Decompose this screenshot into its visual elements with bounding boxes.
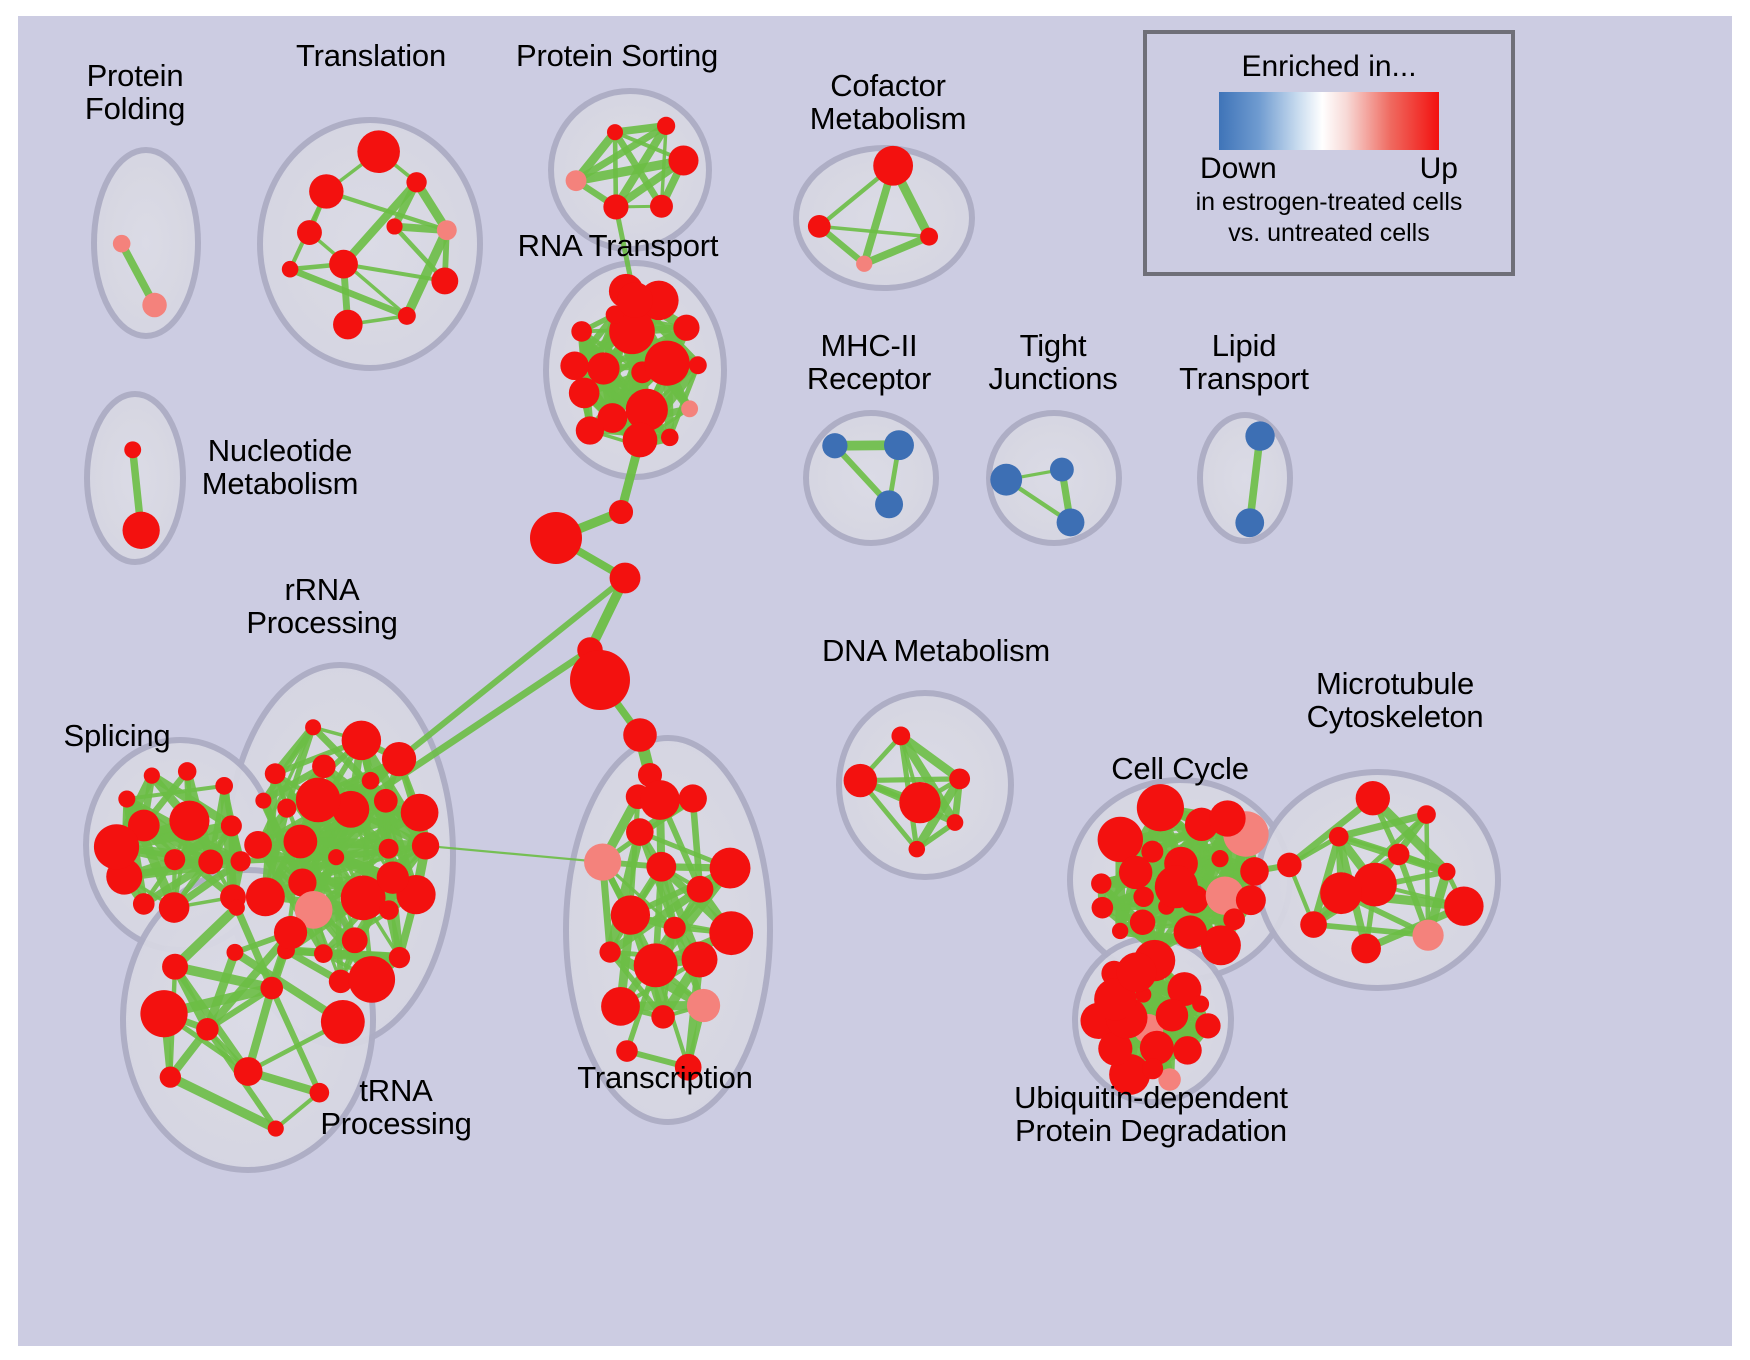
network-node (884, 430, 914, 460)
network-node (679, 784, 707, 812)
network-node (297, 220, 322, 245)
network-node (682, 942, 718, 978)
network-node (198, 849, 223, 874)
network-node (822, 433, 847, 458)
legend-subtitle-line1: in estrogen-treated cells (1147, 188, 1511, 217)
network-node (398, 307, 416, 325)
network-edge (323, 954, 399, 958)
network-node (569, 378, 600, 409)
network-node (601, 987, 640, 1026)
network-node (609, 500, 633, 524)
network-node (314, 944, 333, 963)
network-node (681, 400, 698, 417)
network-node (1211, 850, 1228, 867)
network-node (709, 911, 753, 955)
network-node (587, 352, 619, 384)
cluster-label-cofactor-metabolism: Cofactor Metabolism (788, 70, 988, 135)
network-node (651, 1005, 675, 1029)
network-node (118, 791, 135, 808)
network-node (1209, 800, 1245, 836)
network-node (234, 1057, 263, 1086)
network-node (164, 849, 185, 870)
network-node (246, 877, 285, 916)
network-node (650, 195, 673, 218)
network-node (283, 825, 317, 859)
network-node (617, 282, 653, 318)
network-node (1098, 817, 1143, 862)
network-node (530, 512, 582, 564)
network-node (342, 927, 368, 953)
network-node (1236, 885, 1266, 915)
network-node (406, 172, 426, 192)
network-node (844, 764, 877, 797)
network-node (599, 941, 620, 962)
network-node (623, 423, 658, 458)
network-node (899, 782, 940, 823)
figure-root: Protein Folding Translation Protein Sort… (0, 0, 1750, 1360)
network-node (610, 563, 641, 594)
network-node (379, 900, 399, 920)
network-node (1300, 911, 1327, 938)
network-node (920, 228, 938, 246)
network-node (1156, 999, 1188, 1031)
network-node (570, 650, 630, 710)
network-node (687, 876, 714, 903)
network-node (142, 293, 166, 317)
network-node (668, 145, 698, 175)
network-node (1438, 863, 1456, 881)
network-node (244, 831, 272, 859)
network-node (616, 1040, 638, 1062)
network-node (282, 261, 299, 278)
network-node (321, 1000, 365, 1044)
network-node (640, 780, 680, 820)
network-node (607, 124, 623, 140)
network-node (230, 851, 250, 871)
network-node (1417, 805, 1436, 824)
network-node (1112, 923, 1128, 939)
network-node (382, 742, 416, 776)
network-node (144, 768, 160, 784)
network-node (1351, 934, 1381, 964)
cluster-label-cell-cycle: Cell Cycle (1090, 753, 1270, 786)
cluster-label-lipid-transport: Lipid Transport (1154, 330, 1334, 395)
network-node (255, 793, 271, 809)
network-node (169, 801, 209, 841)
network-node (1057, 508, 1085, 536)
network-node (689, 356, 707, 374)
network-node (566, 170, 587, 191)
network-node (260, 977, 283, 1000)
cluster-label-translation: Translation (281, 40, 461, 73)
network-node (329, 250, 358, 279)
network-node (710, 848, 751, 889)
network-node (412, 832, 439, 859)
network-node (646, 852, 676, 882)
network-node (626, 818, 654, 846)
network-node (661, 429, 679, 447)
network-node (277, 799, 296, 818)
network-node (571, 321, 592, 342)
network-node (305, 719, 321, 735)
network-node (1245, 421, 1274, 450)
network-node (634, 943, 678, 987)
legend-color-bar (1219, 92, 1439, 150)
network-node (673, 315, 699, 341)
network-node (309, 174, 343, 208)
cluster-label-rna-transport: RNA Transport (508, 230, 728, 263)
network-node (431, 268, 458, 295)
network-node (664, 917, 686, 939)
network-node (226, 944, 243, 961)
network-node (611, 895, 650, 934)
network-node (1174, 915, 1207, 948)
network-node (377, 862, 409, 894)
network-node (1117, 952, 1157, 992)
network-node (1277, 853, 1302, 878)
network-node (178, 762, 197, 781)
network-node (1412, 920, 1443, 951)
network-node (362, 772, 380, 790)
network-node (215, 777, 233, 795)
network-node (1133, 887, 1153, 907)
network-node (657, 117, 675, 135)
network-node (873, 146, 913, 186)
network-node (990, 464, 1022, 496)
network-node (162, 954, 188, 980)
network-node (333, 310, 363, 340)
network-node (1092, 897, 1114, 919)
network-node (1130, 909, 1155, 934)
network-node (623, 718, 657, 752)
network-node (1388, 844, 1410, 866)
network-node (196, 1018, 219, 1041)
cluster-label-splicing: Splicing (37, 720, 197, 753)
network-node (133, 893, 155, 915)
network-node (808, 215, 831, 238)
network-node (312, 755, 336, 779)
cluster-hull (806, 413, 936, 543)
network-node (386, 218, 402, 234)
cluster-label-mhc-ii-receptor: MHC-II Receptor (779, 330, 959, 395)
network-node (389, 947, 410, 968)
legend-high-label: Up (1420, 152, 1458, 186)
network-node (328, 849, 344, 865)
network-node (891, 727, 910, 746)
network-node (560, 352, 588, 380)
network-node (123, 512, 160, 549)
cluster-label-rrna-processing: rRNA Processing (232, 574, 412, 639)
network-node (909, 841, 926, 858)
network-node (437, 220, 457, 240)
network-node (1195, 1013, 1220, 1038)
network-node (274, 916, 307, 949)
network-node (603, 194, 628, 219)
network-node (379, 839, 399, 859)
network-node (576, 416, 604, 444)
legend-low-label: Down (1200, 152, 1277, 186)
cluster-label-protein-folding: Protein Folding (60, 60, 210, 125)
network-node (1142, 1058, 1163, 1079)
network-node (1050, 458, 1074, 482)
network-node (687, 989, 720, 1022)
network-node (1356, 781, 1390, 815)
network-node (1192, 995, 1209, 1012)
network-node (124, 441, 141, 458)
network-node (1141, 841, 1163, 863)
network-node (1155, 865, 1198, 908)
network-node (401, 794, 439, 832)
network-node (1173, 1036, 1202, 1065)
network-node (875, 490, 903, 518)
network-node (645, 341, 690, 386)
cluster-label-protein-sorting: Protein Sorting (497, 40, 737, 73)
network-node (949, 768, 970, 789)
network-node (357, 130, 400, 173)
network-node (113, 235, 131, 253)
cluster-label-microtubule-cytoskeleton: Microtubule Cytoskeleton (1275, 668, 1515, 733)
network-node (265, 763, 286, 784)
network-node (268, 1120, 284, 1136)
legend-title: Enriched in... (1147, 50, 1511, 84)
network-node (342, 721, 382, 761)
cluster-label-trna-processing: tRNA Processing (296, 1075, 496, 1140)
network-node (94, 824, 139, 869)
network-node (221, 815, 242, 836)
network-node (1240, 857, 1269, 886)
network-node (1320, 872, 1362, 914)
network-node (374, 789, 398, 813)
cluster-label-transcription: Transcription (545, 1062, 785, 1095)
network-node (348, 956, 395, 1003)
network-node (584, 843, 621, 880)
legend-subtitle-line2: vs. untreated cells (1147, 219, 1511, 248)
network-node (140, 990, 187, 1037)
network-node (160, 1066, 181, 1087)
network-node (159, 892, 190, 923)
network-node (1235, 508, 1264, 537)
cluster-label-tight-junctions: Tight Junctions (963, 330, 1143, 395)
network-node (856, 256, 872, 272)
network-node (947, 814, 964, 831)
network-node (296, 778, 341, 823)
cluster-label-ubiquitin-protein-degradation: Ubiquitin-dependent Protein Degradation (991, 1082, 1311, 1147)
cluster-label-nucleotide-metabolism: Nucleotide Metabolism (180, 435, 380, 500)
network-node (229, 899, 245, 915)
network-node (1137, 784, 1184, 831)
network-node (1444, 886, 1483, 925)
cluster-label-dna-metabolism: DNA Metabolism (806, 635, 1066, 668)
network-node (1329, 827, 1349, 847)
legend-box: Enriched in... Down Up in estrogen-treat… (1143, 30, 1515, 276)
network-node (1091, 873, 1111, 893)
